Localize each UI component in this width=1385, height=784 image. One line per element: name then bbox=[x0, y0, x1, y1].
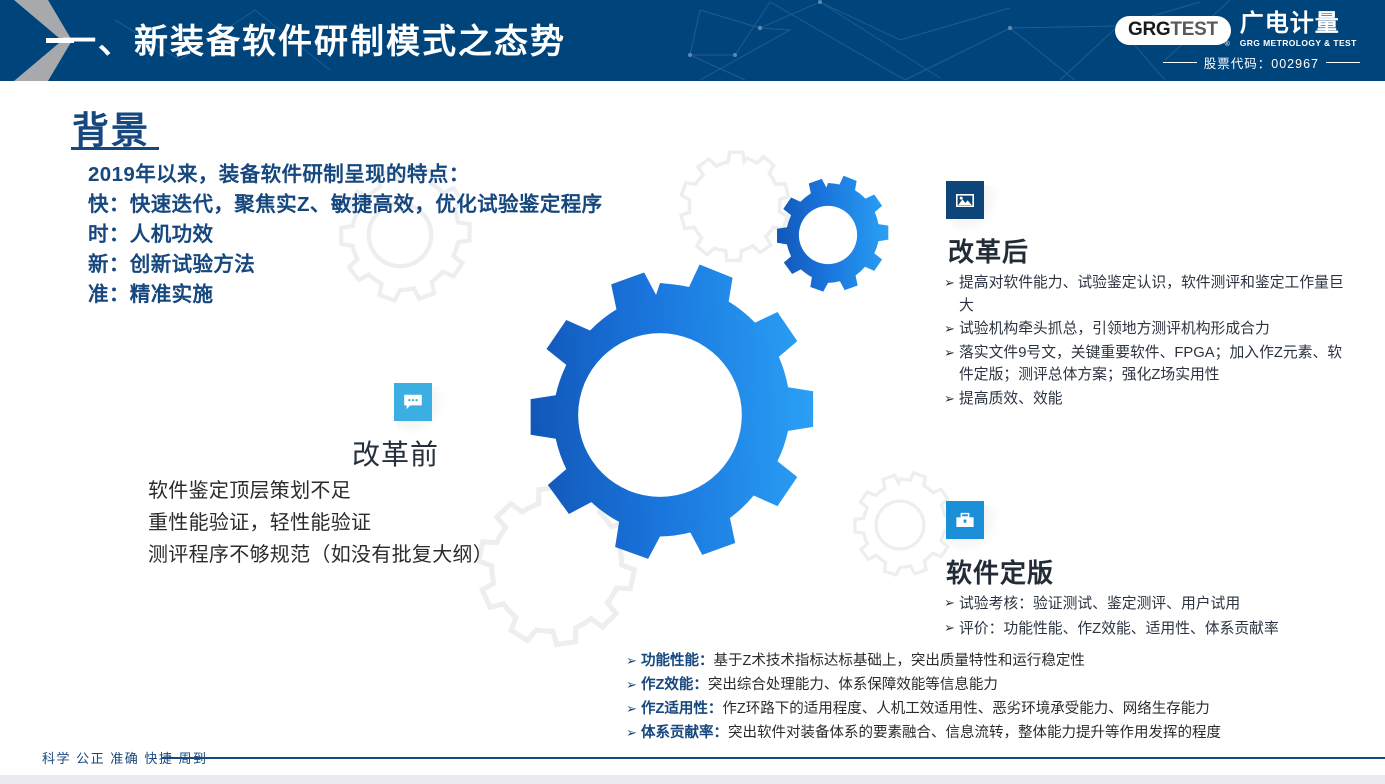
slide-header: 一、新装备软件研制模式之态势 GRG TEST ® 广电计量 GRG METRO… bbox=[0, 0, 1385, 81]
criteria-desc: 基于Z术技术指标达标基础上，突出质量特性和运行稳定性 bbox=[714, 653, 1085, 669]
criteria-desc: 突出软件对装备体系的要素融合、信息流转，整体能力提升等作用发挥的程度 bbox=[728, 725, 1221, 741]
background-text-block: 2019年以来，装备软件研制呈现的特点： 快：快速迭代，聚焦实Z、敏捷高效，优化… bbox=[88, 160, 728, 310]
after-heading: 改革后 bbox=[948, 232, 1029, 269]
criteria-term: 功能性能 bbox=[641, 653, 699, 669]
bullet-arrow-icon: ➢ bbox=[944, 272, 959, 295]
list-item-text: 提高对软件能力、试验鉴定认识，软件测评和鉴定工作量巨大 bbox=[959, 272, 1344, 317]
background-line: 准：精准实施 bbox=[88, 280, 728, 310]
bullet-arrow-icon: ➢ bbox=[944, 617, 959, 640]
criteria-desc: 作Z环路下的适用程度、人机工效适用性、恶劣环境承受能力、网络生存能力 bbox=[722, 701, 1209, 717]
list-item: ➢ 提高对软件能力、试验鉴定认识，软件测评和鉴定工作量巨大 bbox=[944, 272, 1344, 317]
bullet-arrow-icon: ➢ bbox=[944, 388, 959, 411]
chat-bubble-icon bbox=[394, 383, 432, 421]
rule-left bbox=[1163, 62, 1197, 63]
bullet-arrow-icon: ➢ bbox=[944, 342, 959, 365]
rule-right bbox=[1326, 62, 1360, 63]
brand-logo: GRG TEST ® 广电计量 GRG METROLOGY & TEST 股票代… bbox=[1115, 12, 1367, 72]
criteria-separator: ： bbox=[714, 725, 729, 741]
list-item-text: 落实文件9号文，关键重要软件、FPGA；加入作Z元素、软件定版；测评总体方案；强… bbox=[959, 342, 1344, 387]
bullet-arrow-icon: ➢ bbox=[944, 592, 959, 615]
bullet-arrow-icon: ➢ bbox=[626, 650, 641, 673]
background-line: 2019年以来，装备软件研制呈现的特点： bbox=[88, 160, 728, 190]
brand-name-en: GRG METROLOGY & TEST bbox=[1240, 38, 1357, 48]
page-title: 一、新装备软件研制模式之态势 bbox=[62, 14, 566, 63]
heading-underline bbox=[71, 147, 159, 150]
stock-code-line: 股票代码：002967 bbox=[1115, 53, 1367, 72]
criteria-term: 体系贡献率 bbox=[641, 725, 714, 741]
criteria-desc: 突出综合处理能力、体系保障效能等信息能力 bbox=[708, 677, 998, 693]
brand-name-block: 广电计量 GRG METROLOGY & TEST bbox=[1240, 12, 1357, 48]
logo-test-text: TEST bbox=[1170, 19, 1217, 41]
criteria-row: ➢ 作Z效能：突出综合处理能力、体系保障效能等信息能力 bbox=[626, 674, 1376, 697]
stock-code-text: 股票代码：002967 bbox=[1204, 53, 1319, 72]
criteria-row: ➢ 作Z适用性：作Z环路下的适用程度、人机工效适用性、恶劣环境承受能力、网络生存… bbox=[626, 698, 1376, 721]
photo-glyph bbox=[955, 192, 975, 209]
criteria-separator: ： bbox=[699, 653, 714, 669]
chat-bubble-glyph bbox=[403, 394, 423, 411]
before-heading: 改革前 bbox=[352, 433, 439, 473]
background-heading: 背景 bbox=[72, 100, 150, 154]
list-item: ➢ 评价：功能性能、作Z效能、适用性、体系贡献率 bbox=[944, 617, 1354, 641]
footer-bar bbox=[0, 775, 1385, 784]
list-item-text: 试验考核：验证测试、鉴定测评、用户试用 bbox=[959, 592, 1354, 616]
before-line: 测评程序不够规范（如没有批复大纲） bbox=[148, 539, 568, 571]
criteria-bullet-list: ➢ 功能性能：基于Z术技术指标达标基础上，突出质量特性和运行稳定性 ➢ 作Z效能… bbox=[626, 650, 1376, 746]
background-line: 时：人机功效 bbox=[88, 220, 728, 250]
image-photo-icon bbox=[946, 181, 984, 219]
list-item: ➢ 提高质效、效能 bbox=[944, 388, 1344, 411]
bullet-arrow-icon: ➢ bbox=[944, 318, 959, 341]
before-line: 软件鉴定顶层策划不足 bbox=[148, 475, 568, 507]
toolbox-glyph bbox=[955, 512, 975, 529]
list-item: ➢ 落实文件9号文，关键重要软件、FPGA；加入作Z元素、软件定版；测评总体方案… bbox=[944, 342, 1344, 387]
list-item-text: 评价：功能性能、作Z效能、适用性、体系贡献率 bbox=[959, 617, 1354, 641]
list-item: ➢ 试验机构牵头抓总，引领地方测评机构形成合力 bbox=[944, 318, 1344, 341]
grgtest-logomark: GRG TEST ® bbox=[1115, 16, 1231, 45]
bullet-arrow-icon: ➢ bbox=[626, 674, 641, 697]
logo-grg-text: GRG bbox=[1128, 19, 1170, 41]
criteria-term: 作Z效能 bbox=[641, 677, 693, 693]
criteria-separator: ： bbox=[708, 701, 723, 717]
criteria-row: ➢ 体系贡献率：突出软件对装备体系的要素融合、信息流转，整体能力提升等作用发挥的… bbox=[626, 722, 1376, 745]
bullet-arrow-icon: ➢ bbox=[626, 698, 641, 721]
toolbox-icon bbox=[946, 501, 984, 539]
registered-icon: ® bbox=[1225, 41, 1230, 48]
list-item-text: 试验机构牵头抓总，引领地方测评机构形成合力 bbox=[959, 318, 1344, 341]
bullet-arrow-icon: ➢ bbox=[626, 722, 641, 745]
before-text-block: 软件鉴定顶层策划不足 重性能验证，轻性能验证 测评程序不够规范（如没有批复大纲） bbox=[148, 475, 568, 571]
criteria-term: 作Z适用性 bbox=[641, 701, 708, 717]
criteria-row: ➢ 功能性能：基于Z术技术指标达标基础上，突出质量特性和运行稳定性 bbox=[626, 650, 1376, 673]
slide-root: 一、新装备软件研制模式之态势 GRG TEST ® 广电计量 GRG METRO… bbox=[0, 0, 1385, 784]
after-bullet-list: ➢ 提高对软件能力、试验鉴定认识，软件测评和鉴定工作量巨大 ➢ 试验机构牵头抓总… bbox=[944, 272, 1344, 411]
gear-small bbox=[777, 176, 888, 292]
background-line: 新：创新试验方法 bbox=[88, 250, 728, 280]
criteria-separator: ： bbox=[693, 677, 708, 693]
background-line: 快：快速迭代，聚焦实Z、敏捷高效，优化试验鉴定程序 bbox=[88, 190, 728, 220]
list-item-text: 提高质效、效能 bbox=[959, 388, 1344, 411]
software-heading: 软件定版 bbox=[946, 553, 1054, 590]
before-line: 重性能验证，轻性能验证 bbox=[148, 507, 568, 539]
list-item: ➢ 试验考核：验证测试、鉴定测评、用户试用 bbox=[944, 592, 1354, 616]
footer-rule bbox=[162, 757, 1385, 759]
software-bullet-list: ➢ 试验考核：验证测试、鉴定测评、用户试用 ➢ 评价：功能性能、作Z效能、适用性… bbox=[944, 592, 1354, 642]
brand-name-cn: 广电计量 bbox=[1240, 12, 1357, 36]
